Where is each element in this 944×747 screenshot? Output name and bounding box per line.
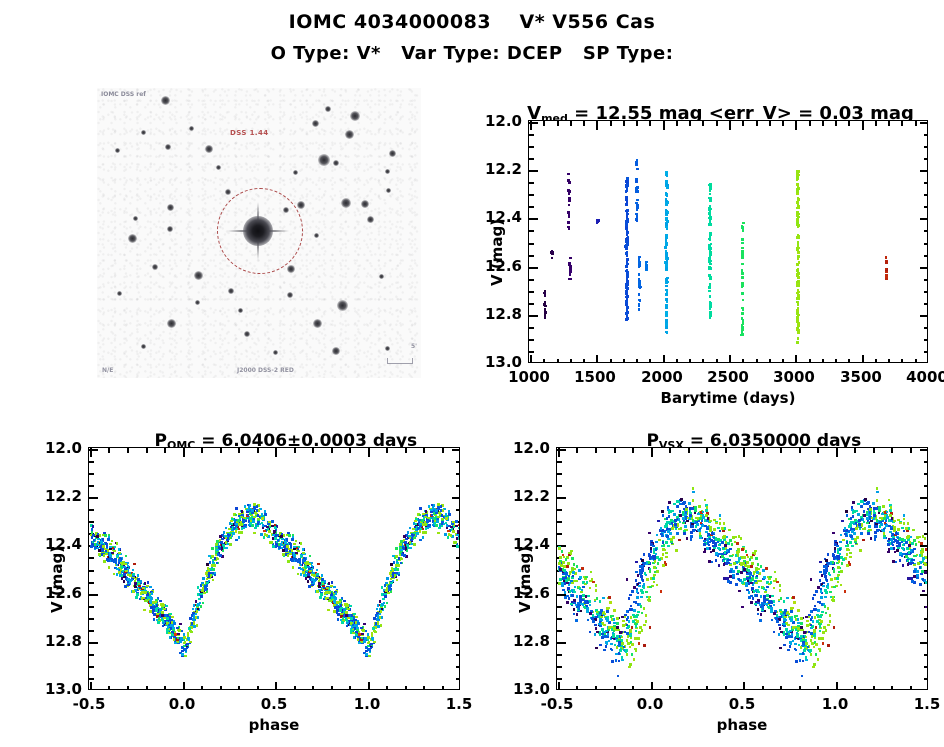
data-point <box>242 520 245 523</box>
axis-tick <box>795 355 797 363</box>
data-point <box>810 639 813 642</box>
data-point <box>435 509 438 512</box>
data-point <box>817 609 820 612</box>
data-point <box>247 514 250 517</box>
timeseries-panel <box>528 120 928 363</box>
data-point <box>902 547 905 550</box>
data-point <box>543 292 546 295</box>
data-point <box>653 566 656 569</box>
phase-omc-plot-area[interactable] <box>88 447 460 690</box>
data-point <box>798 644 801 647</box>
data-point <box>856 536 859 539</box>
data-point <box>390 578 393 581</box>
axis-tick <box>809 121 811 126</box>
axis-tick <box>529 279 534 281</box>
data-point <box>400 558 403 561</box>
data-point <box>268 521 271 524</box>
data-point <box>665 252 668 255</box>
data-point <box>225 527 228 530</box>
data-point <box>685 517 688 520</box>
axis-tick <box>456 461 460 463</box>
axis-tick <box>529 243 534 245</box>
data-point <box>380 624 383 627</box>
data-point <box>426 520 429 523</box>
data-point <box>621 656 624 659</box>
y-tick-label: 12.0 <box>494 439 550 457</box>
data-point <box>427 517 430 520</box>
data-point <box>92 534 95 537</box>
axis-tick <box>706 686 708 690</box>
data-point <box>343 600 346 603</box>
data-point <box>642 579 645 582</box>
data-point <box>147 581 150 584</box>
data-point <box>699 506 702 509</box>
data-point <box>916 574 919 577</box>
data-point <box>898 544 901 547</box>
data-point <box>736 542 739 545</box>
data-point <box>887 540 890 543</box>
axis-tick <box>924 279 928 281</box>
data-point <box>163 608 166 611</box>
axis-tick <box>636 121 638 126</box>
data-point <box>760 595 763 598</box>
data-point <box>660 527 663 530</box>
data-point <box>573 608 576 611</box>
data-point <box>612 615 615 618</box>
data-point <box>616 635 619 638</box>
data-point <box>665 237 668 240</box>
data-point <box>833 570 836 573</box>
data-point <box>118 552 121 555</box>
data-point <box>388 585 391 588</box>
data-point <box>123 573 126 576</box>
data-point <box>905 541 908 544</box>
data-point <box>568 204 571 207</box>
data-point <box>125 563 128 566</box>
field-star <box>389 150 396 157</box>
data-point <box>913 539 916 542</box>
data-point <box>846 514 849 517</box>
data-point <box>813 646 816 649</box>
data-point <box>200 595 203 598</box>
data-point <box>409 541 412 544</box>
axis-tick <box>452 594 460 596</box>
data-point <box>336 604 339 607</box>
data-point <box>109 554 112 557</box>
data-point <box>883 506 886 509</box>
data-point <box>667 506 670 509</box>
data-point <box>722 530 725 533</box>
data-point <box>286 545 289 548</box>
data-point <box>892 536 895 539</box>
data-point <box>911 580 914 583</box>
data-point <box>330 585 333 588</box>
data-point <box>136 593 139 596</box>
data-point <box>863 514 866 517</box>
data-point <box>171 616 174 619</box>
axis-tick <box>557 630 562 632</box>
data-point <box>656 584 659 587</box>
axis-tick <box>529 267 538 269</box>
data-point <box>564 591 567 594</box>
data-point <box>569 257 572 260</box>
data-point <box>319 596 322 599</box>
data-point <box>888 548 891 551</box>
data-point <box>819 561 822 564</box>
data-point <box>770 610 773 613</box>
data-point <box>802 652 805 655</box>
y-tick-label: 12.4 <box>494 535 550 553</box>
axis-tick <box>557 449 566 451</box>
data-point <box>709 313 712 316</box>
y-tick-label: 12.2 <box>26 487 82 505</box>
data-point <box>837 551 840 554</box>
data-point <box>833 586 836 589</box>
data-point <box>813 634 816 637</box>
data-point <box>600 609 603 612</box>
data-point <box>307 573 310 576</box>
data-point <box>885 275 888 278</box>
data-point <box>800 627 803 630</box>
data-point <box>762 569 765 572</box>
data-point <box>336 611 339 614</box>
data-point <box>177 633 180 636</box>
data-point <box>805 616 808 619</box>
data-point <box>625 220 628 223</box>
axis-tick <box>557 606 562 608</box>
axis-tick <box>557 359 559 363</box>
data-point <box>886 511 889 514</box>
data-point <box>295 559 298 562</box>
axis-tick <box>275 448 277 457</box>
data-point <box>917 562 920 565</box>
field-star <box>152 264 158 270</box>
data-point <box>821 637 824 640</box>
data-point <box>600 616 603 619</box>
data-point <box>756 571 759 574</box>
data-point <box>166 617 169 620</box>
data-point <box>729 539 732 542</box>
data-point <box>694 512 697 515</box>
data-point <box>452 530 455 533</box>
data-point <box>743 568 746 571</box>
axis-tick <box>331 448 333 453</box>
data-point <box>784 616 787 619</box>
data-point <box>635 625 638 628</box>
data-point <box>704 548 707 551</box>
data-point <box>302 552 305 555</box>
data-point <box>302 548 305 551</box>
data-point <box>885 268 888 271</box>
axis-tick <box>854 448 856 453</box>
data-point <box>869 511 872 514</box>
data-point <box>778 624 781 627</box>
data-point <box>686 537 689 540</box>
axis-tick <box>257 686 259 690</box>
data-point <box>575 580 578 583</box>
data-point <box>895 561 898 564</box>
data-point <box>877 530 880 533</box>
axis-tick <box>595 448 597 453</box>
data-point <box>208 569 211 572</box>
data-point <box>626 281 629 284</box>
data-point <box>712 549 715 552</box>
data-point <box>216 549 219 552</box>
data-point <box>859 549 862 552</box>
data-point <box>853 510 856 513</box>
axis-tick <box>924 654 928 656</box>
data-point <box>800 639 803 642</box>
data-point <box>611 618 614 621</box>
data-point <box>626 653 629 656</box>
axis-tick <box>583 359 585 363</box>
data-point <box>628 666 631 669</box>
data-point <box>851 530 854 533</box>
axis-tick <box>456 570 460 572</box>
data-point <box>742 222 745 225</box>
data-point <box>569 271 572 274</box>
data-point <box>638 258 641 261</box>
data-point <box>694 506 697 509</box>
axis-tick <box>596 355 598 363</box>
data-point <box>779 647 782 650</box>
data-point <box>587 595 590 598</box>
data-point <box>788 613 791 616</box>
data-point <box>786 597 789 600</box>
data-point <box>812 620 815 623</box>
data-point <box>308 585 311 588</box>
data-point <box>640 589 643 592</box>
axis-tick <box>920 497 928 499</box>
data-point <box>812 597 815 600</box>
data-point <box>822 631 825 634</box>
data-point <box>293 546 296 549</box>
timeseries-plot-area[interactable] <box>528 120 928 363</box>
data-point <box>560 564 563 567</box>
data-point <box>888 499 891 502</box>
data-point <box>906 530 909 533</box>
data-point <box>392 569 395 572</box>
axis-tick <box>676 121 678 126</box>
data-point <box>807 646 810 649</box>
axis-tick <box>557 678 562 680</box>
axis-tick <box>89 497 98 499</box>
x-tick-label: 1.5 <box>887 695 944 713</box>
data-point <box>361 637 364 640</box>
data-point <box>849 541 852 544</box>
data-point <box>396 579 399 582</box>
data-point <box>626 311 629 314</box>
axis-tick <box>716 121 718 126</box>
data-point <box>96 543 99 546</box>
data-point <box>822 585 825 588</box>
data-point <box>688 502 691 505</box>
header-block: IOMC 4034000083 V* V556 Cas O Type: V* V… <box>0 0 944 64</box>
data-point <box>820 596 823 599</box>
data-point <box>710 243 713 246</box>
axis-tick <box>623 359 625 363</box>
data-point <box>223 546 226 549</box>
data-point <box>840 556 843 559</box>
data-point <box>570 550 573 553</box>
data-point <box>235 530 238 533</box>
data-point <box>796 309 799 312</box>
data-point <box>571 567 574 570</box>
data-point <box>640 565 643 568</box>
data-point <box>923 562 926 565</box>
data-point <box>116 542 119 545</box>
data-point <box>374 631 377 634</box>
finder-corner-label-topleft: IOMC DSS ref <box>101 91 146 98</box>
data-point <box>121 577 124 580</box>
data-point <box>430 509 433 512</box>
data-point <box>384 605 387 608</box>
y-tick-label: 12.0 <box>466 112 522 130</box>
data-point <box>874 535 877 538</box>
axis-tick <box>89 582 94 584</box>
axis-tick <box>636 359 638 363</box>
data-point <box>774 571 777 574</box>
data-point <box>230 520 233 523</box>
phase-vsx-plot-area[interactable] <box>556 447 928 690</box>
data-point <box>736 551 739 554</box>
data-point <box>595 616 598 619</box>
data-point <box>216 562 219 565</box>
data-point <box>666 535 669 538</box>
data-point <box>673 513 676 516</box>
data-point <box>773 604 776 607</box>
data-point <box>648 599 651 602</box>
data-point <box>221 538 224 541</box>
data-point <box>100 541 103 544</box>
data-point <box>778 633 781 636</box>
data-point <box>636 206 639 209</box>
data-point <box>278 546 281 549</box>
data-point <box>229 534 232 537</box>
axis-tick <box>848 121 850 126</box>
data-point <box>169 636 172 639</box>
data-point <box>90 545 93 548</box>
data-point <box>445 517 448 520</box>
data-point <box>666 277 669 280</box>
data-point <box>626 255 629 258</box>
axis-tick <box>924 182 928 184</box>
data-point <box>387 592 390 595</box>
data-point <box>243 525 246 528</box>
data-point <box>544 294 547 297</box>
data-point <box>318 582 321 585</box>
data-point <box>643 553 646 556</box>
data-point <box>229 537 232 540</box>
data-point <box>761 604 764 607</box>
data-point <box>183 636 186 639</box>
data-point <box>268 530 271 533</box>
axis-tick <box>875 359 877 363</box>
data-point <box>277 539 280 542</box>
data-point <box>741 286 744 289</box>
data-point <box>719 518 722 521</box>
data-point <box>365 646 368 649</box>
axis-tick <box>557 666 562 668</box>
data-point <box>581 599 584 602</box>
data-point <box>273 530 276 533</box>
data-point <box>347 604 350 607</box>
data-point <box>666 301 669 304</box>
data-point <box>779 584 782 587</box>
data-point <box>350 622 353 625</box>
data-point <box>441 514 444 517</box>
axis-tick <box>529 315 538 317</box>
axis-tick <box>614 686 616 690</box>
data-point <box>797 216 800 219</box>
data-point <box>640 605 643 608</box>
data-point <box>638 293 641 296</box>
data-point <box>120 569 123 572</box>
data-point <box>395 564 398 567</box>
data-point <box>587 619 590 622</box>
axis-tick <box>663 355 665 363</box>
data-point <box>829 614 832 617</box>
axis-tick <box>183 682 185 690</box>
axis-tick <box>456 678 460 680</box>
data-point <box>104 534 107 537</box>
data-point <box>846 553 849 556</box>
data-point <box>133 563 136 566</box>
data-point <box>135 596 138 599</box>
data-point <box>409 547 412 550</box>
data-point <box>240 531 243 534</box>
data-point <box>876 519 879 522</box>
data-point <box>569 268 572 271</box>
data-point <box>150 606 153 609</box>
data-point <box>631 626 634 629</box>
data-point <box>779 589 782 592</box>
data-point <box>634 637 637 640</box>
data-point <box>797 627 800 630</box>
data-point <box>316 590 319 593</box>
data-point <box>866 522 869 525</box>
data-point <box>398 574 401 577</box>
axis-tick <box>275 682 277 690</box>
data-point <box>133 573 136 576</box>
data-point <box>170 624 173 627</box>
data-point <box>567 173 570 176</box>
data-point <box>708 266 711 269</box>
axis-tick <box>924 666 928 668</box>
data-point <box>925 581 928 584</box>
data-point <box>390 575 393 578</box>
data-point <box>709 183 712 186</box>
axis-tick <box>456 606 460 608</box>
data-point <box>635 630 638 633</box>
y-tick-label: 12.4 <box>466 208 522 226</box>
data-point <box>230 526 233 529</box>
data-point <box>683 530 686 533</box>
axis-tick <box>89 654 94 656</box>
data-point <box>649 586 652 589</box>
data-point <box>638 273 641 276</box>
data-point <box>788 635 791 638</box>
data-point <box>797 243 800 246</box>
data-point <box>144 591 147 594</box>
axis-tick <box>257 448 259 453</box>
data-point <box>627 616 630 619</box>
data-point <box>626 230 629 233</box>
axis-tick <box>442 686 444 690</box>
data-point <box>326 587 329 590</box>
data-point <box>565 572 568 575</box>
axis-tick <box>529 327 534 329</box>
